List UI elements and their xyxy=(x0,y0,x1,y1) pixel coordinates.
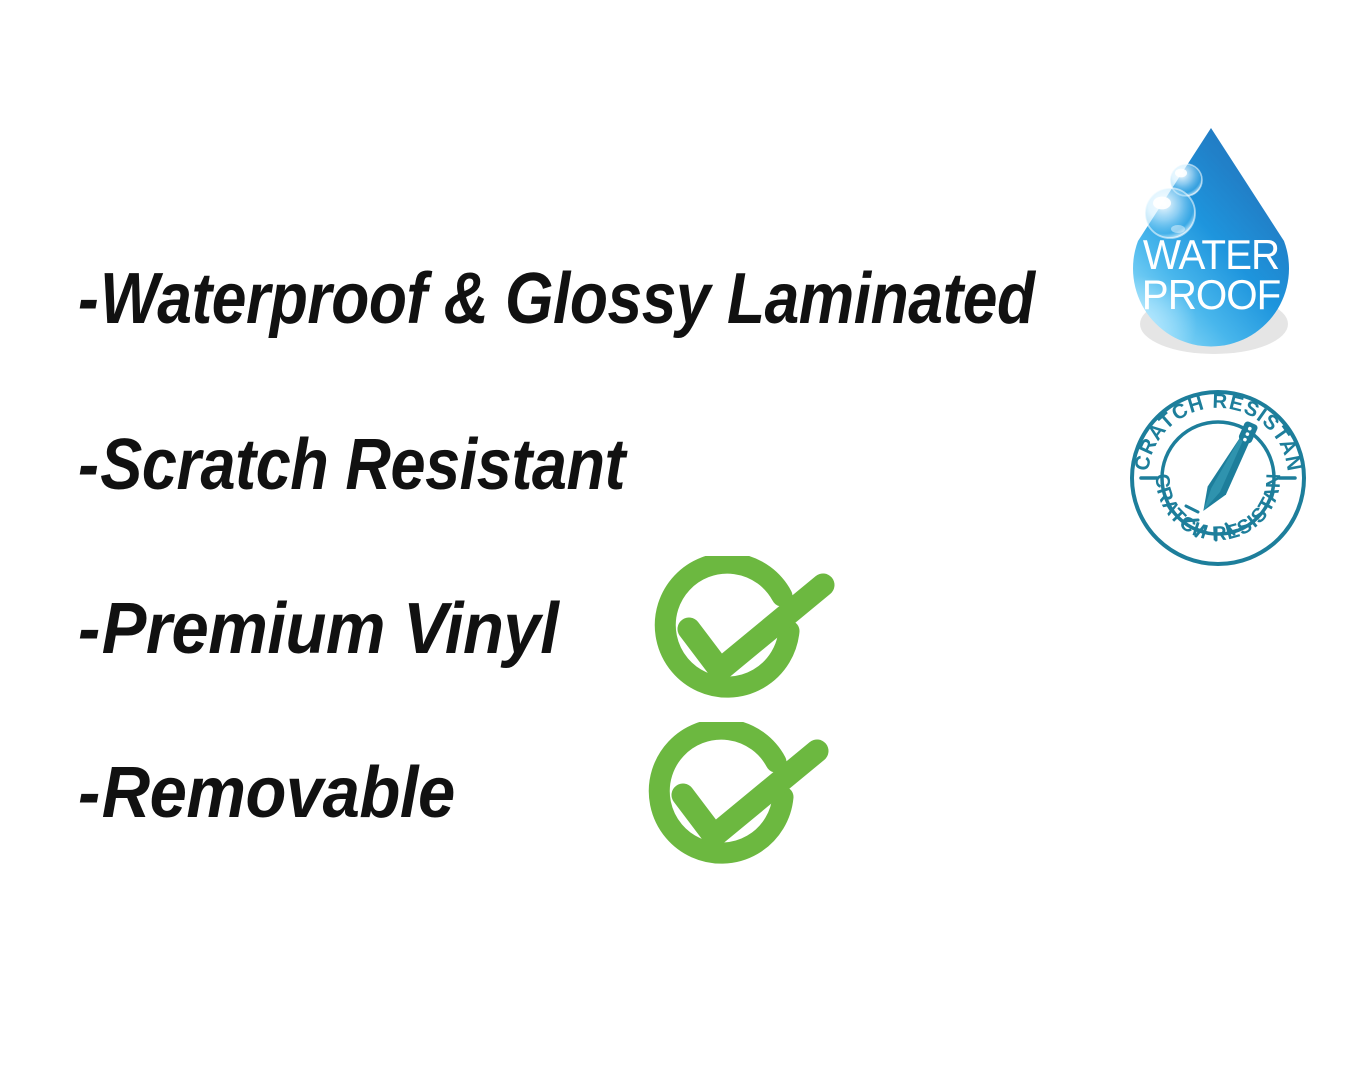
waterproof-badge: WATER PROOF xyxy=(1104,110,1318,362)
feature-line-scratch-resistant: -Scratch Resistant xyxy=(78,424,625,506)
feature-dash: - xyxy=(78,258,98,340)
feature-dash: - xyxy=(78,424,99,506)
feature-label: Premium Vinyl xyxy=(102,589,559,669)
waterproof-line2: PROOF xyxy=(1142,271,1281,318)
check-mark-icon xyxy=(683,751,817,836)
knife-icon xyxy=(1198,417,1259,517)
feature-line-removable: -Removable xyxy=(78,752,455,834)
feature-line-waterproof: -Waterproof & Glossy Laminated xyxy=(78,258,1035,340)
feature-label: Scratch Resistant xyxy=(100,425,625,505)
check-circle-premium-vinyl xyxy=(643,556,839,714)
feature-dash: - xyxy=(78,588,100,670)
feature-label: Removable xyxy=(102,753,455,833)
feature-dash: - xyxy=(78,752,100,834)
feature-line-premium-vinyl: -Premium Vinyl xyxy=(78,588,558,670)
check-mark-icon xyxy=(689,585,823,670)
scratch-resistant-badge: SCRATCH RESISTANT SCRATCH RESISTANT xyxy=(1126,386,1310,570)
check-circle-removable xyxy=(637,722,833,880)
stamp-text-top: SCRATCH RESISTANT xyxy=(1126,386,1306,474)
feature-label: Waterproof & Glossy Laminated xyxy=(100,259,1035,339)
product-feature-graphic: -Waterproof & Glossy Laminated -Scratch … xyxy=(0,0,1359,1080)
